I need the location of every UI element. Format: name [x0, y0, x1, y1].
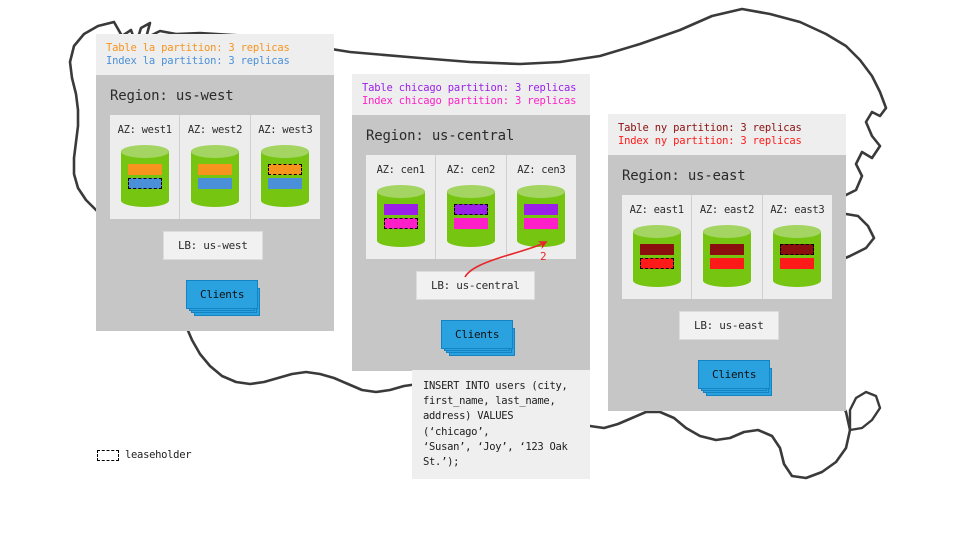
clients-label[interactable]: Clients — [698, 360, 770, 389]
table-replica-band-leaseholder — [780, 244, 814, 255]
table-partition-line: Table ny partition: 3 replicas — [618, 122, 836, 135]
az-container-us-east: AZ: east1 AZ: east2 — [622, 195, 832, 299]
cylinder-body — [703, 231, 751, 281]
az-west3[interactable]: AZ: west3 — [250, 115, 320, 219]
clients-label[interactable]: Clients — [186, 280, 258, 309]
cylinder-body — [377, 191, 425, 241]
node-cylinder[interactable] — [517, 185, 565, 247]
table-replica-band — [128, 164, 162, 175]
cylinder-body — [261, 151, 309, 201]
index-replica-band-leaseholder — [640, 258, 674, 269]
node-cylinder[interactable] — [773, 225, 821, 287]
node-cylinder[interactable] — [121, 145, 169, 207]
dashed-rect-icon — [97, 450, 119, 461]
node-cylinder[interactable] — [633, 225, 681, 287]
node-cylinder[interactable] — [261, 145, 309, 207]
table-replica-band-leaseholder — [454, 204, 488, 215]
node-cylinder[interactable] — [447, 185, 495, 247]
table-replica-band — [198, 164, 232, 175]
table-replica-band — [640, 244, 674, 255]
region-head-us-east: Table ny partition: 3 replicas Index ny … — [608, 114, 846, 155]
load-balancer-us-west[interactable]: LB: us-west — [163, 231, 263, 260]
cylinder-body — [773, 231, 821, 281]
az-label: AZ: east2 — [692, 204, 761, 216]
index-replica-band — [780, 258, 814, 269]
legend-leaseholder: leaseholder — [97, 449, 191, 461]
load-balancer-us-east[interactable]: LB: us-east — [679, 311, 779, 340]
az-east2[interactable]: AZ: east2 — [691, 195, 761, 299]
clients-label[interactable]: Clients — [441, 320, 513, 349]
index-partition-line: Index chicago partition: 3 replicas — [362, 95, 580, 108]
region-head-us-central: Table chicago partition: 3 replicas Inde… — [352, 74, 590, 115]
node-cylinder[interactable] — [191, 145, 239, 207]
sql-statement-callout: INSERT INTO users (city, first_name, las… — [412, 370, 590, 479]
index-replica-band-leaseholder — [384, 218, 418, 229]
index-replica-band — [268, 178, 302, 189]
index-replica-band — [198, 178, 232, 189]
az-cen2[interactable]: AZ: cen2 — [435, 155, 505, 259]
cylinder-body — [191, 151, 239, 201]
index-replica-band — [454, 218, 488, 229]
clients-us-central[interactable]: Clients — [441, 320, 513, 349]
region-title-us-west: Region: us-west — [96, 75, 334, 115]
az-west2[interactable]: AZ: west2 — [179, 115, 249, 219]
clients-us-west[interactable]: Clients — [186, 280, 258, 309]
index-replica-band — [710, 258, 744, 269]
table-replica-band-leaseholder — [268, 164, 302, 175]
table-partition-line: Table la partition: 3 replicas — [106, 42, 324, 55]
az-container-us-west: AZ: west1 AZ: west2 — [110, 115, 320, 219]
index-replica-band — [524, 218, 558, 229]
index-partition-line: Index ny partition: 3 replicas — [618, 135, 836, 148]
az-east3[interactable]: AZ: east3 — [762, 195, 832, 299]
region-head-us-west: Table la partition: 3 replicas Index la … — [96, 34, 334, 75]
load-balancer-us-central[interactable]: LB: us-central — [416, 271, 535, 300]
cylinder-body — [517, 191, 565, 241]
az-container-us-central: AZ: cen1 AZ: cen2 — [366, 155, 576, 259]
table-replica-band — [710, 244, 744, 255]
legend-label: leaseholder — [125, 449, 191, 461]
table-replica-band — [524, 204, 558, 215]
az-east1[interactable]: AZ: east1 — [622, 195, 691, 299]
node-cylinder[interactable] — [377, 185, 425, 247]
az-label: AZ: east3 — [763, 204, 832, 216]
table-partition-line: Table chicago partition: 3 replicas — [362, 82, 580, 95]
az-label: AZ: west3 — [251, 124, 320, 136]
region-title-us-central: Region: us-central — [352, 115, 590, 155]
cylinder-body — [633, 231, 681, 281]
az-cen3[interactable]: AZ: cen3 — [506, 155, 576, 259]
az-label: AZ: east1 — [622, 204, 691, 216]
az-cen1[interactable]: AZ: cen1 — [366, 155, 435, 259]
index-partition-line: Index la partition: 3 replicas — [106, 55, 324, 68]
az-label: AZ: west2 — [180, 124, 249, 136]
az-label: AZ: west1 — [110, 124, 179, 136]
index-replica-band-leaseholder — [128, 178, 162, 189]
az-label: AZ: cen2 — [436, 164, 505, 176]
az-west1[interactable]: AZ: west1 — [110, 115, 179, 219]
az-label: AZ: cen3 — [507, 164, 576, 176]
region-title-us-east: Region: us-east — [608, 155, 846, 195]
cylinder-body — [121, 151, 169, 201]
table-replica-band — [384, 204, 418, 215]
clients-us-east[interactable]: Clients — [698, 360, 770, 389]
cylinder-body — [447, 191, 495, 241]
diagram-canvas: Table la partition: 3 replicas Index la … — [0, 0, 960, 540]
az-label: AZ: cen1 — [366, 164, 435, 176]
node-cylinder[interactable] — [703, 225, 751, 287]
arrow-step-2-label: 2 — [540, 250, 547, 263]
